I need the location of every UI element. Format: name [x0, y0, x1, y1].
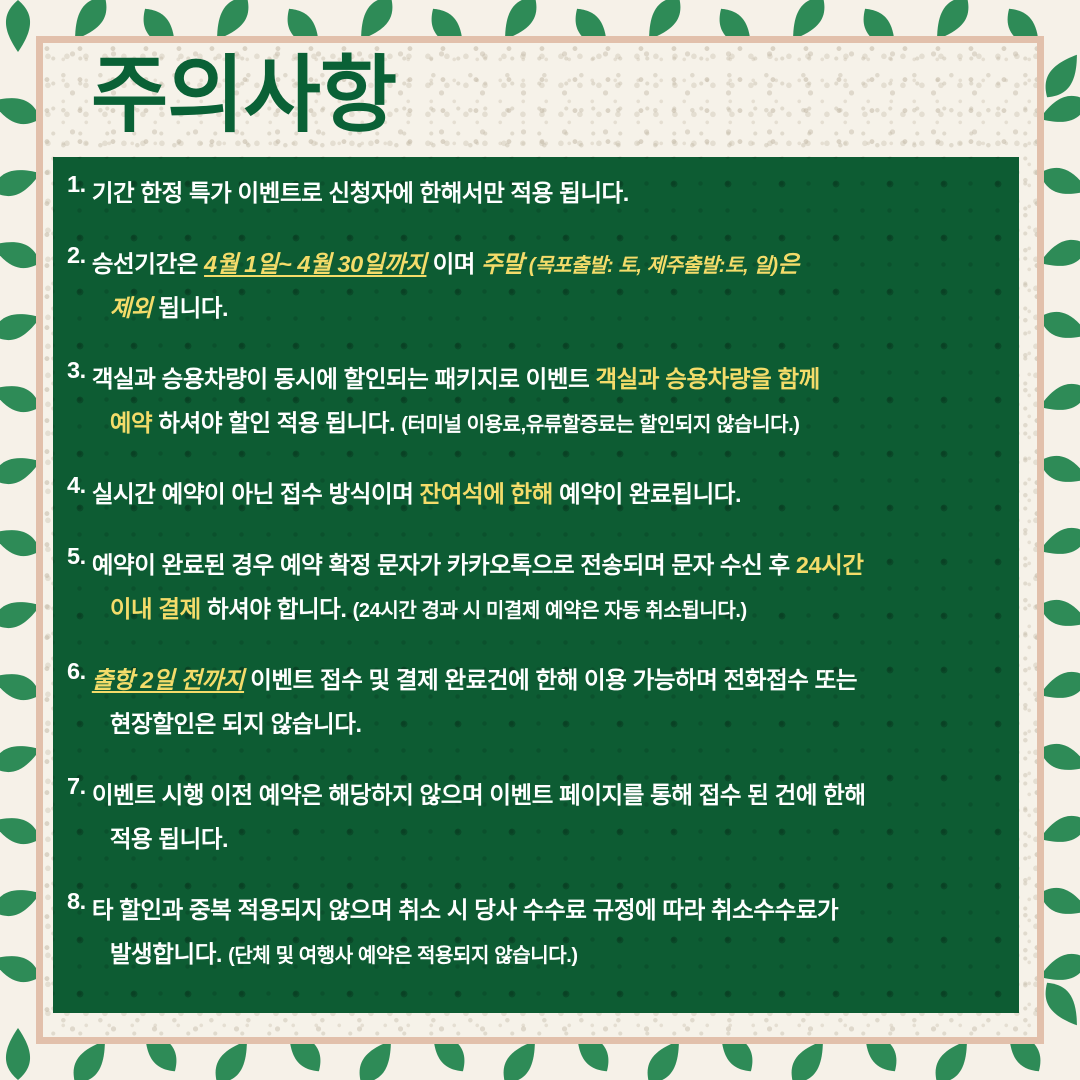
highlighted-text-run: 객실과 승용차량을 함께	[595, 366, 819, 392]
text-run: 하셔야 할인 적용 됩니다.	[152, 410, 401, 436]
notice-text-line: 이벤트 시행 이전 예약은 해당하지 않으며 이벤트 페이지를 통해 접수 된 …	[92, 773, 1009, 817]
notice-card: 주의사항 1.기간 한정 특가 이벤트로 신청자에 한해서만 적용 됩니다.2.…	[36, 36, 1044, 1044]
notice-text-line: 타 할인과 중복 적용되지 않으며 취소 시 당사 수수료 규정에 따라 취소수…	[92, 888, 1009, 932]
notice-item-number: 6.	[53, 658, 92, 685]
text-run: (단체 및 여행사 예약은 적용되지 않습니다.)	[228, 945, 577, 967]
notice-item: 6. 출항 2일 전까지 이벤트 접수 및 결제 완료건에 한해 이용 가능하며…	[53, 658, 1019, 746]
text-run: 실시간 예약이 아닌 접수 방식이며	[92, 481, 420, 507]
highlighted-text-run: 4월 1일~ 4월 30일까지	[204, 251, 426, 277]
text-run: 예약이 완료됩니다.	[553, 481, 741, 507]
notice-item: 4.실시간 예약이 아닌 접수 방식이며 잔여석에 한해 예약이 완료됩니다.	[53, 472, 1019, 516]
text-run: (24시간 경과 시 미결제 예약은 자동 취소됩니다.)	[353, 600, 747, 622]
highlighted-text-run: 예약	[110, 410, 152, 436]
page-title: 주의사항	[91, 47, 396, 144]
notice-text-line: 승선기간은 4월 1일~ 4월 30일까지 이며 주말 (목포출발: 토, 제주…	[92, 242, 1009, 286]
poster-root: 주의사항 1.기간 한정 특가 이벤트로 신청자에 한해서만 적용 됩니다.2.…	[0, 0, 1080, 1080]
highlighted-text-run: 은	[778, 251, 799, 277]
highlighted-text-run: 주말	[481, 251, 523, 277]
notice-text-line: 현장할인은 되지 않습니다.	[92, 702, 1009, 746]
text-run: 됩니다.	[152, 295, 228, 321]
notice-item-text: 출항 2일 전까지 이벤트 접수 및 결제 완료건에 한해 이용 가능하며 전화…	[92, 658, 1019, 746]
notice-item-number: 3.	[53, 357, 92, 384]
notice-text-line: 객실과 승용차량이 동시에 할인되는 패키지로 이벤트 객실과 승용차량을 함께	[92, 357, 1009, 401]
notice-text-line: 예약이 완료된 경우 예약 확정 문자가 카카오톡으로 전송되며 문자 수신 후…	[92, 543, 1009, 587]
highlighted-text-run: 이내 결제	[110, 596, 201, 622]
notice-text-line: 발생합니다. (단체 및 여행사 예약은 적용되지 않습니다.)	[92, 932, 1009, 976]
notice-text-line: 이내 결제 하셔야 합니다. (24시간 경과 시 미결제 예약은 자동 취소됩…	[92, 587, 1009, 631]
text-run: 기간 한정 특가 이벤트로 신청자에 한해서만 적용 됩니다.	[92, 180, 629, 206]
notice-item-number: 2.	[53, 242, 92, 269]
text-run: 예약이 완료된 경우 예약 확정 문자가 카카오톡으로 전송되며 문자 수신 후	[92, 552, 796, 578]
text-run: 발생합니다.	[110, 941, 228, 967]
notice-item-text: 이벤트 시행 이전 예약은 해당하지 않으며 이벤트 페이지를 통해 접수 된 …	[92, 773, 1019, 861]
notice-list: 1.기간 한정 특가 이벤트로 신청자에 한해서만 적용 됩니다.2.승선기간은…	[53, 171, 1019, 976]
text-run: 현장할인은 되지 않습니다.	[110, 711, 362, 737]
notice-item-text: 타 할인과 중복 적용되지 않으며 취소 시 당사 수수료 규정에 따라 취소수…	[92, 888, 1019, 976]
text-run: 타 할인과 중복 적용되지 않으며 취소 시 당사 수수료 규정에 따라 취소수…	[92, 897, 838, 923]
text-run: 이벤트 접수 및 결제 완료건에 한해 이용 가능하며 전화접수 또는	[244, 667, 857, 693]
notice-item: 2.승선기간은 4월 1일~ 4월 30일까지 이며 주말 (목포출발: 토, …	[53, 242, 1019, 330]
notice-item-number: 1.	[53, 171, 92, 198]
text-run: (터미널 이용료,유류할증료는 할인되지 않습니다.)	[401, 414, 799, 436]
notice-text-line: 적용 됩니다.	[92, 817, 1009, 861]
highlighted-text-run: 제외	[110, 295, 152, 321]
notice-item-number: 5.	[53, 543, 92, 570]
highlighted-text-run: (목포출발: 토, 제주출발:토, 일)	[524, 255, 778, 277]
notice-text-line: 기간 한정 특가 이벤트로 신청자에 한해서만 적용 됩니다.	[92, 171, 1009, 215]
text-run: 이벤트 시행 이전 예약은 해당하지 않으며 이벤트 페이지를 통해 접수 된 …	[92, 782, 866, 808]
highlighted-text-run: 24시간	[796, 552, 864, 578]
notice-item-number: 7.	[53, 773, 92, 800]
notice-item: 8.타 할인과 중복 적용되지 않으며 취소 시 당사 수수료 규정에 따라 취…	[53, 888, 1019, 976]
notice-item: 1.기간 한정 특가 이벤트로 신청자에 한해서만 적용 됩니다.	[53, 171, 1019, 215]
notice-item-number: 4.	[53, 472, 92, 499]
notice-item-text: 객실과 승용차량이 동시에 할인되는 패키지로 이벤트 객실과 승용차량을 함께…	[92, 357, 1019, 445]
notice-item-text: 기간 한정 특가 이벤트로 신청자에 한해서만 적용 됩니다.	[92, 171, 1019, 215]
notice-item-text: 승선기간은 4월 1일~ 4월 30일까지 이며 주말 (목포출발: 토, 제주…	[92, 242, 1019, 330]
notice-item: 3.객실과 승용차량이 동시에 할인되는 패키지로 이벤트 객실과 승용차량을 …	[53, 357, 1019, 445]
notice-item-number: 8.	[53, 888, 92, 915]
notice-item: 5.예약이 완료된 경우 예약 확정 문자가 카카오톡으로 전송되며 문자 수신…	[53, 543, 1019, 631]
highlighted-text-run: 잔여석에 한해	[420, 481, 553, 507]
notice-item-text: 실시간 예약이 아닌 접수 방식이며 잔여석에 한해 예약이 완료됩니다.	[92, 472, 1019, 516]
text-run: 하셔야 합니다.	[201, 596, 353, 622]
text-run: 이며	[426, 251, 481, 277]
notice-text-line: 출항 2일 전까지 이벤트 접수 및 결제 완료건에 한해 이용 가능하며 전화…	[92, 658, 1009, 702]
text-run: 객실과 승용차량이 동시에 할인되는 패키지로 이벤트	[92, 366, 596, 392]
highlighted-text-run: 출항 2일 전까지	[92, 667, 244, 693]
text-run: 승선기간은	[92, 251, 204, 277]
notice-item-text: 예약이 완료된 경우 예약 확정 문자가 카카오톡으로 전송되며 문자 수신 후…	[92, 543, 1019, 631]
notice-text-line: 예약 하셔야 할인 적용 됩니다. (터미널 이용료,유류할증료는 할인되지 않…	[92, 401, 1009, 445]
notice-panel: 1.기간 한정 특가 이벤트로 신청자에 한해서만 적용 됩니다.2.승선기간은…	[53, 157, 1019, 1013]
notice-text-line: 실시간 예약이 아닌 접수 방식이며 잔여석에 한해 예약이 완료됩니다.	[92, 472, 1009, 516]
notice-text-line: 제외 됩니다.	[92, 286, 1009, 330]
text-run: 적용 됩니다.	[110, 826, 228, 852]
notice-item: 7.이벤트 시행 이전 예약은 해당하지 않으며 이벤트 페이지를 통해 접수 …	[53, 773, 1019, 861]
